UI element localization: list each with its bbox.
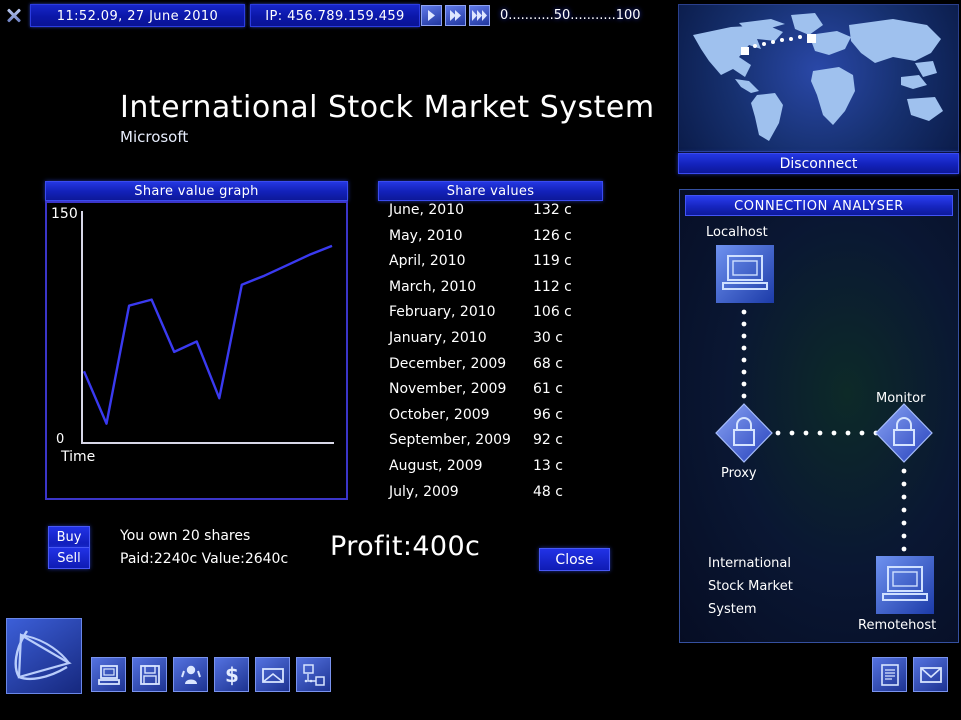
share-value-amount: 119 c xyxy=(533,253,572,269)
network-icon xyxy=(302,663,326,687)
shares-owned-text: You own 20 shares xyxy=(120,528,250,544)
disconnect-button[interactable]: Disconnect xyxy=(678,153,959,174)
share-value-graph-panel: 150 0 Time xyxy=(45,201,348,500)
dollar-icon: $ xyxy=(220,663,244,687)
share-value-amount: 68 c xyxy=(533,356,563,372)
share-value-row: January, 201030 c xyxy=(378,330,603,356)
clock-display: 11:52.09, 27 June 2010 xyxy=(30,4,245,27)
tray-mail-button[interactable] xyxy=(913,657,948,692)
connection-analyser-panel: CONNECTION ANALYSER xyxy=(679,189,959,643)
taskbar-mail-button[interactable] xyxy=(255,657,290,692)
share-value-amount: 92 c xyxy=(533,432,563,448)
page-title: International Stock Market System xyxy=(120,90,655,125)
tray-document-button[interactable] xyxy=(872,657,907,692)
share-value-row: June, 2010132 c xyxy=(378,202,603,228)
sell-button[interactable]: Sell xyxy=(48,547,90,569)
fast-forward-3x-icon xyxy=(472,9,487,22)
share-value-amount: 61 c xyxy=(533,381,563,397)
y-axis-min-label: 0 xyxy=(56,432,64,447)
share-value-amount: 106 c xyxy=(533,304,572,320)
localhost-computer-icon xyxy=(716,245,774,303)
share-values-list: June, 2010132 cMay, 2010126 cApril, 2010… xyxy=(378,202,603,509)
monitor-lock-diamond-icon xyxy=(876,404,932,462)
share-value-amount: 30 c xyxy=(533,330,563,346)
share-value-row: April, 2010119 c xyxy=(378,253,603,279)
share-value-amount: 13 c xyxy=(533,458,563,474)
world-map xyxy=(678,4,959,152)
share-value-month: April, 2010 xyxy=(389,253,466,269)
envelope-icon xyxy=(919,663,943,687)
taskbar-computer-button[interactable] xyxy=(91,657,126,692)
share-value-row: May, 2010126 c xyxy=(378,228,603,254)
share-value-row: August, 200913 c xyxy=(378,458,603,484)
svg-text:$: $ xyxy=(225,663,239,687)
top-bar: 11:52.09, 27 June 2010 IP: 456.789.159.4… xyxy=(0,0,670,32)
share-value-month: October, 2009 xyxy=(389,407,490,423)
x-axis-label: Time xyxy=(61,449,95,465)
close-x-icon[interactable] xyxy=(4,5,24,25)
share-value-row: September, 200992 c xyxy=(378,432,603,458)
proxy-lock-diamond-icon xyxy=(716,404,772,462)
share-value-month: June, 2010 xyxy=(389,202,464,218)
play-speed-1x-button[interactable] xyxy=(421,5,442,26)
fast-forward-icon xyxy=(449,9,462,22)
share-value-row: October, 200996 c xyxy=(378,407,603,433)
share-value-row: July, 200948 c xyxy=(378,484,603,510)
speed-scale: 0...........50...........100 xyxy=(500,6,665,26)
computer-icon xyxy=(97,663,121,687)
floppy-disk-icon xyxy=(138,663,162,687)
taskbar-contacts-button[interactable] xyxy=(173,657,208,692)
share-values-header: Share values xyxy=(378,181,603,201)
profit-text: Profit:400c xyxy=(330,531,480,562)
share-value-row: March, 2010112 c xyxy=(378,279,603,305)
ip-display: IP: 456.789.159.459 xyxy=(250,4,420,27)
share-value-month: September, 2009 xyxy=(389,432,511,448)
share-value-row: December, 200968 c xyxy=(378,356,603,382)
taskbar-floppy-button[interactable] xyxy=(132,657,167,692)
system-name-line-2: Stock Market xyxy=(708,579,793,594)
share-value-month: November, 2009 xyxy=(389,381,506,397)
world-map-graphic xyxy=(679,5,958,151)
share-value-month: March, 2010 xyxy=(389,279,476,295)
system-name-line-1: International xyxy=(708,556,791,571)
document-icon xyxy=(878,663,902,687)
share-value-row: November, 200961 c xyxy=(378,381,603,407)
close-button[interactable]: Close xyxy=(539,548,610,571)
taskbar-network-button[interactable] xyxy=(296,657,331,692)
taskbar-finance-button[interactable]: $ xyxy=(214,657,249,692)
share-value-month: December, 2009 xyxy=(389,356,506,372)
node-label-proxy: Proxy xyxy=(721,466,757,481)
node-label-monitor: Monitor xyxy=(876,391,925,406)
node-label-localhost: Localhost xyxy=(706,225,768,240)
company-name: Microsoft xyxy=(120,128,188,146)
share-value-row: February, 2010106 c xyxy=(378,304,603,330)
share-value-amount: 48 c xyxy=(533,484,563,500)
satellite-dish-icon xyxy=(7,619,81,693)
paid-value-text: Paid:2240c Value:2640c xyxy=(120,551,288,567)
share-value-month: August, 2009 xyxy=(389,458,483,474)
share-value-month: July, 2009 xyxy=(389,484,459,500)
share-value-amount: 132 c xyxy=(533,202,572,218)
share-value-amount: 96 c xyxy=(533,407,563,423)
y-axis-max-label: 150 xyxy=(51,206,78,222)
system-name-line-3: System xyxy=(708,602,756,617)
remotehost-computer-icon xyxy=(876,556,934,614)
share-value-graph-header: Share value graph xyxy=(45,181,348,201)
share-value-month: February, 2010 xyxy=(389,304,496,320)
share-value-amount: 126 c xyxy=(533,228,572,244)
buy-button[interactable]: Buy xyxy=(48,526,90,548)
connection-topology-graphic xyxy=(680,190,958,642)
share-value-amount: 112 c xyxy=(533,279,572,295)
play-icon xyxy=(426,9,437,22)
start-button[interactable] xyxy=(6,618,82,694)
play-speed-2x-button[interactable] xyxy=(445,5,466,26)
play-speed-3x-button[interactable] xyxy=(469,5,490,26)
share-value-month: May, 2010 xyxy=(389,228,462,244)
contacts-person-icon xyxy=(179,663,203,687)
share-value-month: January, 2010 xyxy=(389,330,487,346)
app-screen: 11:52.09, 27 June 2010 IP: 456.789.159.4… xyxy=(0,0,961,720)
envelope-icon xyxy=(261,663,285,687)
node-label-remotehost: Remotehost xyxy=(858,618,936,633)
